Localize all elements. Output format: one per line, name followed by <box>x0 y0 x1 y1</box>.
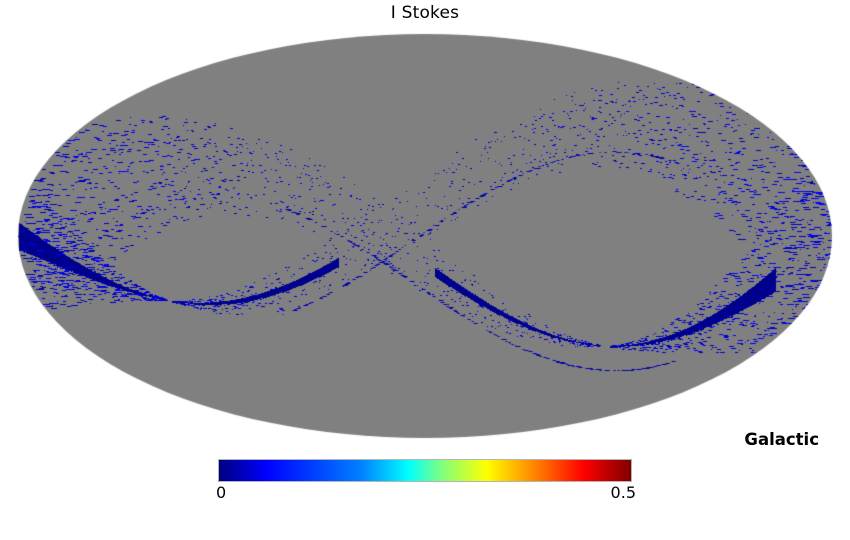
sky-map-figure: I Stokes Galactic 0 0.5 <box>0 0 850 540</box>
colorbar-max-tick: 0.5 <box>611 483 636 502</box>
sky-map-canvas[interactable] <box>0 28 850 448</box>
colorbar[interactable]: 0 0.5 <box>218 459 632 505</box>
page-title: I Stokes <box>0 3 850 23</box>
coordinate-system-label: Galactic <box>744 430 819 449</box>
colorbar-gradient[interactable] <box>218 459 632 482</box>
colorbar-min-tick: 0 <box>216 483 226 502</box>
mollweide-projection: Galactic <box>0 28 850 448</box>
